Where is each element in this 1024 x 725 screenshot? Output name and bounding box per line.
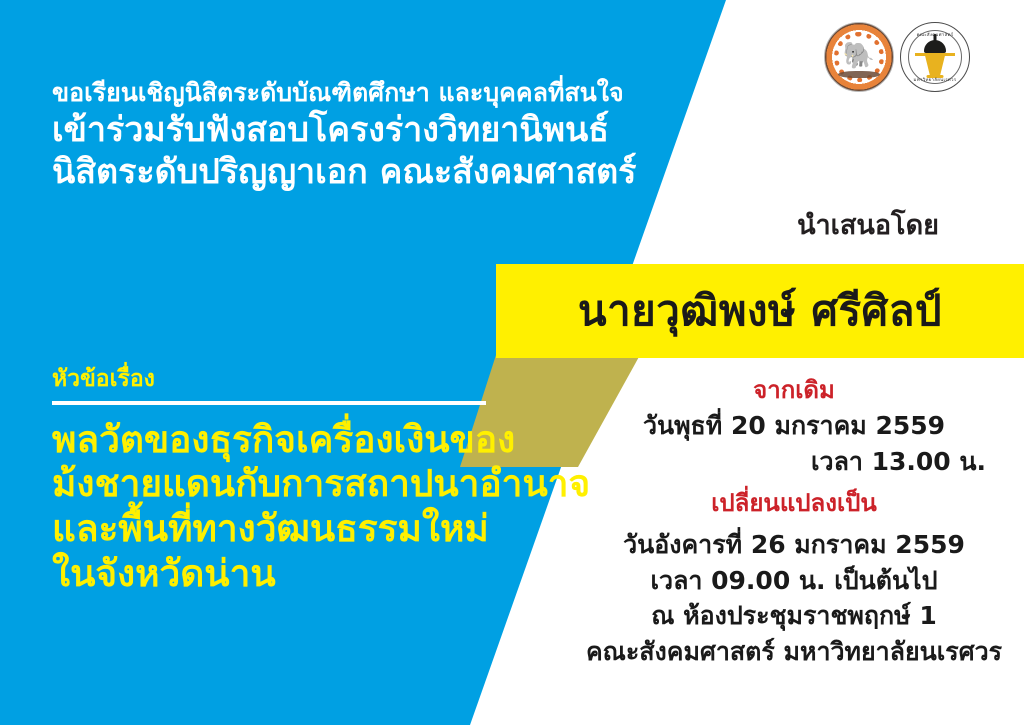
presented-by-label: นำเสนอโดย xyxy=(712,203,1024,246)
new-time: เวลา 09.00 น. เป็นต้นไป xyxy=(580,563,1008,599)
topic-block: หัวข้อเรื่อง พลวัตของธุรกิจเครื่องเงินขอ… xyxy=(52,366,500,597)
changed-schedule-label: เปลี่ยนแปลงเป็น xyxy=(580,485,1008,521)
topic-title-line: และพื้นที่ทางวัฒนธรรมใหม่ xyxy=(52,507,500,552)
venue: ณ ห้องประชุมราชพฤกษ์ 1 xyxy=(580,598,1008,634)
topic-title-line: พลวัตของธุรกิจเครื่องเงินของ xyxy=(52,418,500,463)
naresuan-university-seal-icon: 🐘 xyxy=(824,22,894,92)
original-schedule-label: จากเดิม xyxy=(580,372,1008,408)
event-line: เข้าร่วมรับฟังสอบโครงร่างวิทยานิพนธ์ xyxy=(52,109,652,152)
institution: คณะสังคมศาสตร์ มหาวิทยาลัยนเรศวร xyxy=(580,634,1008,670)
program-line: นิสิตระดับปริญญาเอก คณะสังคมศาสตร์ xyxy=(52,151,652,194)
original-date: วันพุธที่ 20 มกราคม 2559 xyxy=(580,408,1008,444)
header-block: ขอเรียนเชิญนิสิตระดับบัณฑิตศึกษา และบุคค… xyxy=(52,78,652,194)
invitation-line: ขอเรียนเชิญนิสิตระดับบัณฑิตศึกษา และบุคค… xyxy=(52,78,652,109)
presenter-name: นายวุฒิพงษ์ ศรีศิลป์ xyxy=(496,264,1024,358)
topic-title-line: ในจังหวัดน่าน xyxy=(52,552,500,597)
poster-canvas: 🐘 คณะสังคมศาสตร์ มหาวิทยาลัยนเรศวร ขอเรี… xyxy=(0,0,1024,725)
topic-title: พลวัตของธุรกิจเครื่องเงินของ ม้งชายแดนกั… xyxy=(52,418,500,597)
topic-title-line: ม้งชายแดนกับการสถาปนาอำนาจ xyxy=(52,462,500,507)
elephant-icon: 🐘 xyxy=(843,43,875,69)
seal-banner-band xyxy=(838,71,880,78)
topic-divider xyxy=(52,401,486,405)
topic-label: หัวข้อเรื่อง xyxy=(52,366,500,394)
pagoda-crossbar-icon xyxy=(915,53,955,56)
original-time: เวลา 13.00 น. xyxy=(580,444,1008,480)
logo-group: 🐘 คณะสังคมศาสตร์ มหาวิทยาลัยนเรศวร xyxy=(824,22,970,92)
faculty-of-social-sciences-seal-icon: คณะสังคมศาสตร์ มหาวิทยาลัยนเรศวร xyxy=(900,22,970,92)
schedule-details: จากเดิม วันพุธที่ 20 มกราคม 2559 เวลา 13… xyxy=(580,372,1008,669)
seal-arc-text-bottom: มหาวิทยาลัยนเรศวร xyxy=(901,76,969,83)
new-date: วันอังคารที่ 26 มกราคม 2559 xyxy=(580,527,1008,563)
